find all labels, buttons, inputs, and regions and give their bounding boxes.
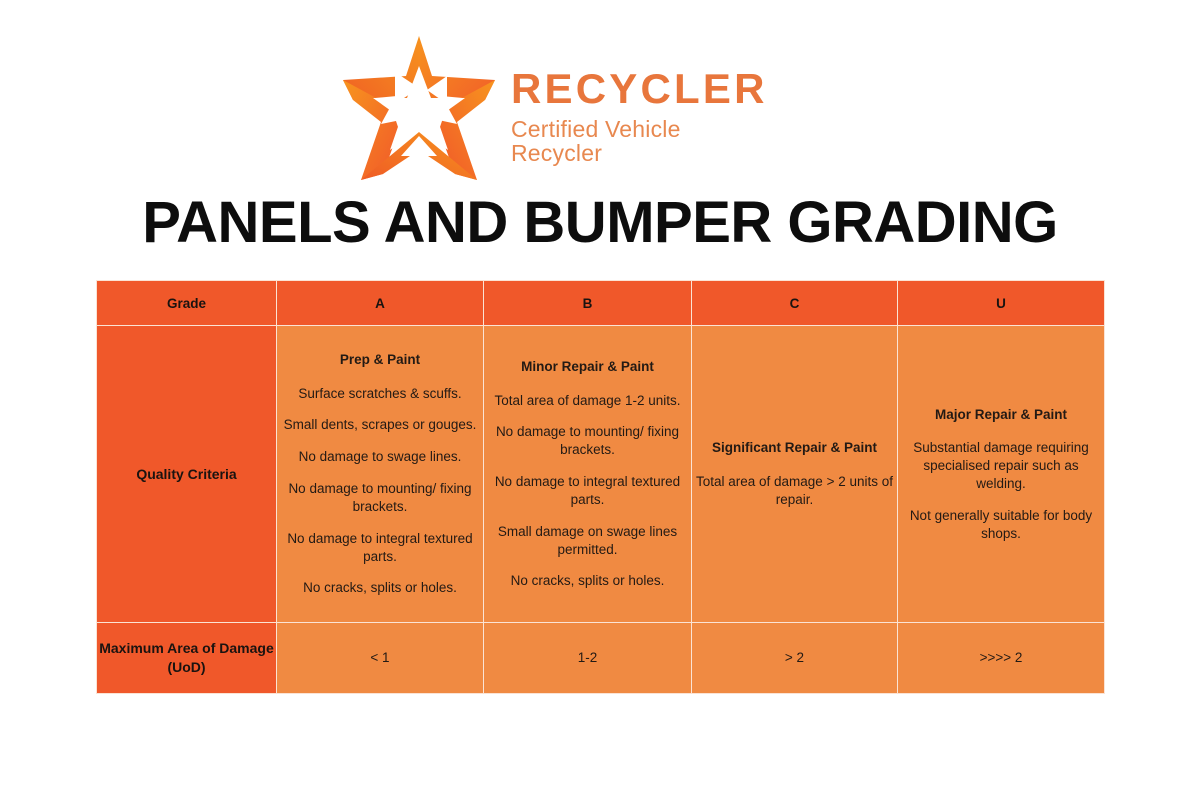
cell-max-area-a: < 1: [277, 623, 484, 694]
cell-lead: Prep & Paint: [277, 351, 483, 369]
cell-line: No damage to integral textured parts.: [277, 530, 483, 566]
cell-line: No damage to mounting/ fixing brackets.: [277, 480, 483, 516]
table-row-maximum-area-of-damage: Maximum Area of Damage (UoD) < 1 1-2 > 2…: [97, 623, 1105, 694]
table-row-quality-criteria: Quality Criteria Prep & Paint Surface sc…: [97, 326, 1105, 623]
recycler-star-arrows-logo-icon: [335, 32, 503, 184]
cell-lead: Significant Repair & Paint: [692, 439, 897, 457]
panels-bumper-grading-table: Grade A B C U Quality Criteria Prep & Pa…: [96, 280, 1105, 694]
cell-line: No damage to integral textured parts.: [484, 473, 691, 509]
brand-logo: RECYCLER Certified Vehicle Recycler: [335, 30, 775, 185]
cell-quality-criteria-a: Prep & Paint Surface scratches & scuffs.…: [277, 326, 484, 623]
cell-quality-criteria-c: Significant Repair & Paint Total area of…: [692, 326, 898, 623]
row-label-maximum-area-of-damage: Maximum Area of Damage (UoD): [97, 623, 277, 694]
cell-line: Substantial damage requiring specialised…: [898, 439, 1104, 492]
cell-line: Small damage on swage lines permitted.: [484, 523, 691, 559]
header-cell-grade-b: B: [484, 281, 692, 326]
brand-wordmark: RECYCLER Certified Vehicle Recycler: [511, 50, 775, 165]
cell-lead: Major Repair & Paint: [898, 406, 1104, 424]
header-cell-grade-a: A: [277, 281, 484, 326]
cell-line: Total area of damage 1-2 units.: [484, 392, 691, 410]
cell-line: No cracks, splits or holes.: [277, 579, 483, 597]
cell-lead: Minor Repair & Paint: [484, 358, 691, 376]
cell-max-area-c: > 2: [692, 623, 898, 694]
cell-line: No damage to mounting/ fixing brackets.: [484, 423, 691, 459]
brand-name: RECYCLER: [511, 68, 775, 111]
header-cell-grade-c: C: [692, 281, 898, 326]
cell-quality-criteria-b: Minor Repair & Paint Total area of damag…: [484, 326, 692, 623]
brand-tagline: Certified Vehicle Recycler: [511, 117, 775, 165]
cell-max-area-b: 1-2: [484, 623, 692, 694]
cell-line: No damage to swage lines.: [277, 448, 483, 466]
cell-line: Total area of damage > 2 units of repair…: [692, 473, 897, 509]
cell-line: Not generally suitable for body shops.: [898, 507, 1104, 543]
cell-line: Surface scratches & scuffs.: [277, 385, 483, 403]
cell-quality-criteria-u: Major Repair & Paint Substantial damage …: [898, 326, 1105, 623]
page-title: PANELS AND BUMPER GRADING: [0, 193, 1200, 254]
row-label-quality-criteria: Quality Criteria: [97, 326, 277, 623]
header-cell-grade-u: U: [898, 281, 1105, 326]
table-header-row: Grade A B C U: [97, 281, 1105, 326]
cell-line: Small dents, scrapes or gouges.: [277, 416, 483, 434]
cell-line: No cracks, splits or holes.: [484, 572, 691, 590]
cell-max-area-u: >>>> 2: [898, 623, 1105, 694]
header-cell-grade: Grade: [97, 281, 277, 326]
